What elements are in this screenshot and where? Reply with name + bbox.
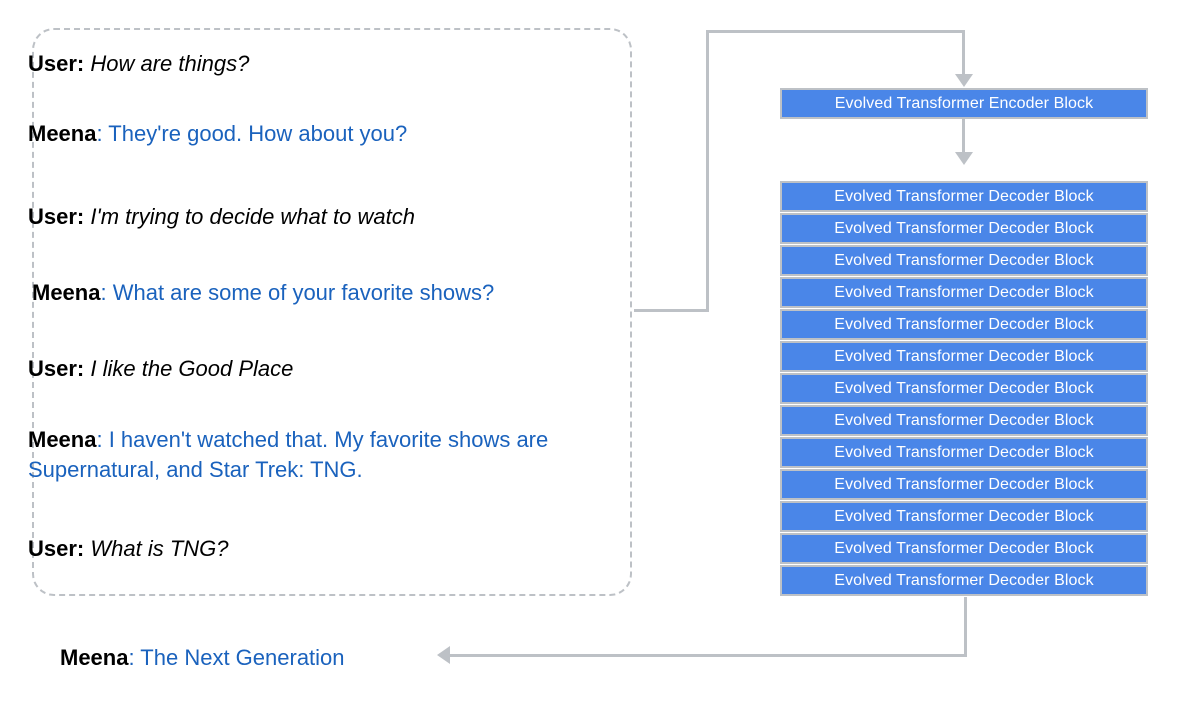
output-turn: Meena: The Next Generation — [60, 643, 345, 673]
conversation-turn-5: User: I like the Good Place — [28, 354, 293, 384]
turn-text: How are things? — [84, 51, 249, 76]
decoder-block[interactable]: Evolved Transformer Decoder Block — [780, 501, 1148, 532]
decoder-block[interactable]: Evolved Transformer Decoder Block — [780, 181, 1148, 212]
output-speaker: Meena — [60, 645, 128, 670]
arrow-down-icon — [955, 74, 973, 87]
turn-speaker: User: — [28, 356, 84, 381]
decoder-block[interactable]: Evolved Transformer Decoder Block — [780, 373, 1148, 404]
decoder-block[interactable]: Evolved Transformer Decoder Block — [780, 533, 1148, 564]
turn-speaker: User: — [28, 536, 84, 561]
conversation-turn-1: User: How are things? — [28, 49, 249, 79]
conversation-turn-7: User: What is TNG? — [28, 534, 229, 564]
turn-text: : They're good. How about you? — [96, 121, 407, 146]
conversation-turn-4: Meena: What are some of your favorite sh… — [32, 278, 494, 308]
conversation-turn-2: Meena: They're good. How about you? — [28, 119, 407, 149]
input-connector-horizontal-lower — [634, 309, 709, 312]
decoder-block[interactable]: Evolved Transformer Decoder Block — [780, 565, 1148, 596]
input-connector-horizontal-upper — [706, 30, 965, 33]
decoder-block[interactable]: Evolved Transformer Decoder Block — [780, 437, 1148, 468]
turn-speaker: Meena — [28, 427, 96, 452]
conversation-panel — [32, 28, 632, 596]
turn-text: I like the Good Place — [84, 356, 293, 381]
arrow-left-icon — [437, 646, 450, 664]
arrow-down-icon — [955, 152, 973, 165]
turn-speaker: User: — [28, 204, 84, 229]
decoder-block[interactable]: Evolved Transformer Decoder Block — [780, 213, 1148, 244]
conversation-turn-3: User: I'm trying to decide what to watch — [28, 202, 415, 232]
decoder-block[interactable]: Evolved Transformer Decoder Block — [780, 309, 1148, 340]
input-connector-drop — [962, 30, 965, 77]
decoder-block[interactable]: Evolved Transformer Decoder Block — [780, 277, 1148, 308]
turn-speaker: Meena — [28, 121, 96, 146]
turn-text: : I haven't watched that. My favorite sh… — [28, 427, 548, 482]
input-connector-vertical — [706, 30, 709, 312]
turn-speaker: User: — [28, 51, 84, 76]
decoder-block[interactable]: Evolved Transformer Decoder Block — [780, 245, 1148, 276]
turn-text: : What are some of your favorite shows? — [100, 280, 494, 305]
decoder-stack: Evolved Transformer Decoder Block Evolve… — [780, 181, 1148, 596]
encoder-block[interactable]: Evolved Transformer Encoder Block — [780, 88, 1148, 119]
output-connector-horizontal — [450, 654, 967, 657]
decoder-block[interactable]: Evolved Transformer Decoder Block — [780, 405, 1148, 436]
decoder-block[interactable]: Evolved Transformer Decoder Block — [780, 469, 1148, 500]
output-connector-vertical — [964, 597, 967, 655]
turn-text: What is TNG? — [84, 536, 228, 561]
output-text: : The Next Generation — [128, 645, 344, 670]
turn-text: I'm trying to decide what to watch — [84, 204, 415, 229]
turn-speaker: Meena — [32, 280, 100, 305]
diagram-canvas: User: How are things? Meena: They're goo… — [0, 0, 1199, 715]
encoder-decoder-connector — [962, 119, 965, 155]
conversation-turn-6: Meena: I haven't watched that. My favori… — [28, 425, 573, 485]
decoder-block[interactable]: Evolved Transformer Decoder Block — [780, 341, 1148, 372]
